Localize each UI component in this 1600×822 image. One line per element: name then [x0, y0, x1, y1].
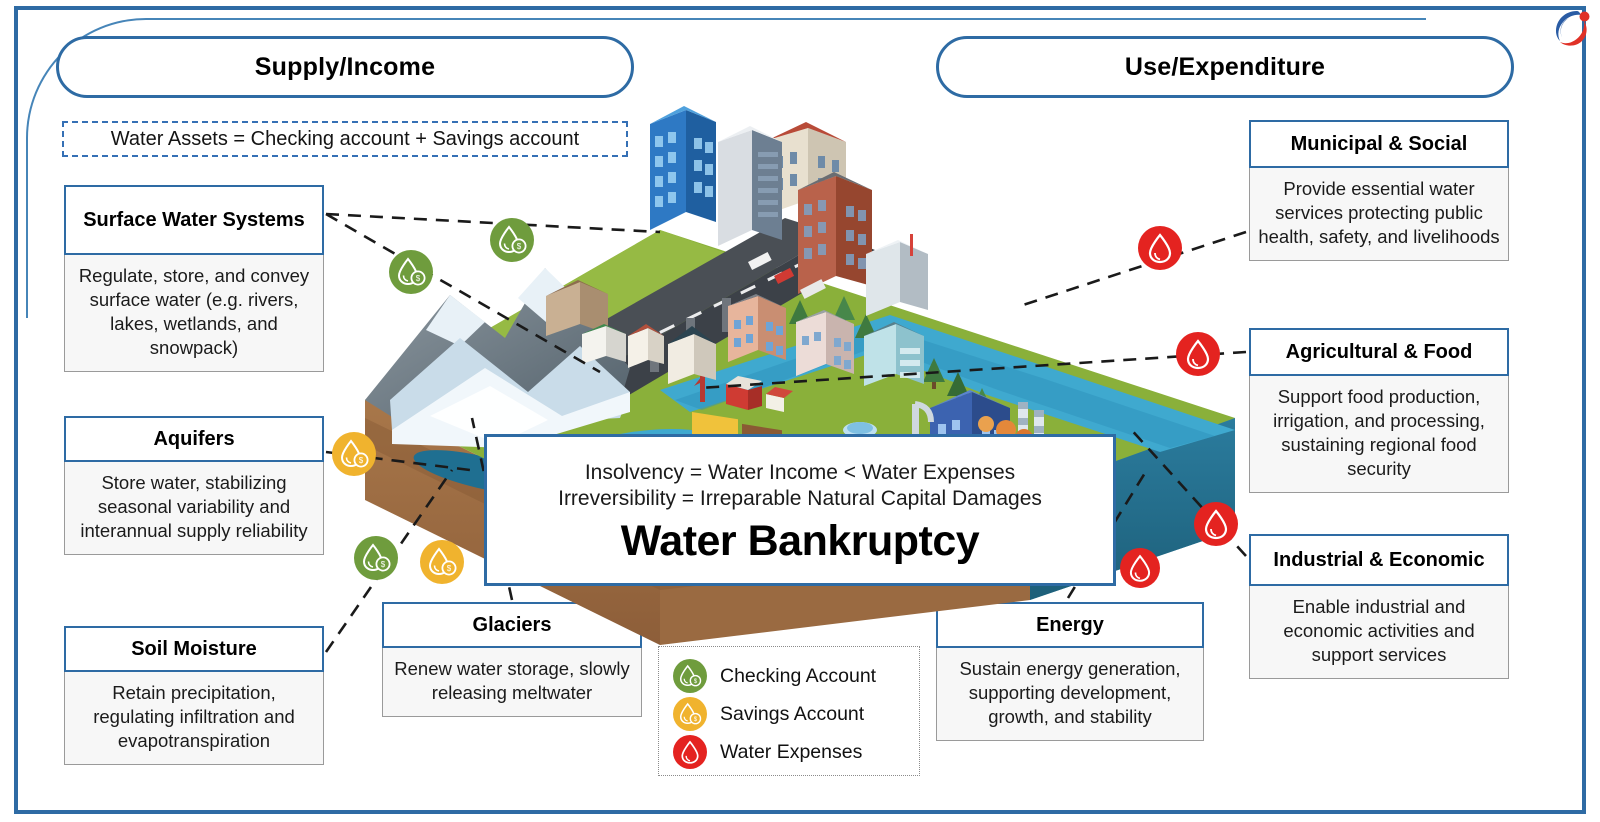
legend-item-savings: $ Savings Account — [673, 695, 919, 733]
water-expense-badge-4 — [1120, 548, 1160, 588]
card-title: Aquifers — [64, 416, 324, 462]
legend-label: Savings Account — [720, 703, 864, 726]
card-title: Soil Moisture — [64, 626, 324, 672]
brand-logo-icon — [1546, 4, 1594, 52]
water-expense-badge-2 — [1176, 332, 1220, 376]
card-body: Retain precipitation, regulating infiltr… — [64, 672, 324, 765]
legend-item-checking: $ Checking Account — [673, 657, 919, 695]
card-surface-water-systems[interactable]: Surface Water Systems Regulate, store, a… — [64, 185, 324, 372]
water-drop-dollar-yellow-icon: $ — [673, 697, 707, 731]
legend-label: Water Expenses — [720, 741, 862, 764]
svg-text:$: $ — [359, 456, 364, 465]
checking-account-badge-3: $ — [354, 536, 398, 580]
water-drop-dollar-green-icon: $ — [673, 659, 707, 693]
legend-item-expenses: Water Expenses — [673, 733, 919, 771]
water-drop-red-icon — [673, 735, 707, 769]
legend-label: Checking Account — [720, 665, 876, 688]
savings-account-badge-2: $ — [420, 540, 464, 584]
svg-text:$: $ — [694, 716, 698, 723]
card-title: Surface Water Systems — [64, 185, 324, 255]
card-body: Store water, stabilizing seasonal variab… — [64, 462, 324, 555]
checking-account-badge-1: $ — [389, 250, 433, 294]
water-expense-badge-1 — [1138, 226, 1182, 270]
use-expenditure-header: Use/Expenditure — [936, 36, 1514, 98]
water-expense-badge-3 — [1194, 502, 1238, 546]
savings-account-badge-1: $ — [332, 432, 376, 476]
supply-income-header: Supply/Income — [56, 36, 634, 98]
svg-text:$: $ — [447, 564, 452, 573]
svg-text:$: $ — [381, 560, 386, 569]
insolvency-equation: Insolvency = Water Income < Water Expens… — [585, 460, 1015, 486]
water-bankruptcy-headline: Water Bankruptcy — [621, 517, 979, 566]
card-soil-moisture[interactable]: Soil Moisture Retain precipitation, regu… — [64, 626, 324, 765]
water-bankruptcy-callout: Insolvency = Water Income < Water Expens… — [484, 434, 1116, 586]
watershed-illustration — [330, 100, 1290, 680]
infographic-canvas: Supply/Income Use/Expenditure Water Asse… — [0, 0, 1600, 822]
irreversibility-equation: Irreversibility = Irreparable Natural Ca… — [558, 486, 1042, 512]
legend-panel: $ Checking Account $ Savings Account — [658, 646, 920, 776]
checking-account-badge-2: $ — [490, 218, 534, 262]
svg-text:$: $ — [416, 274, 421, 283]
card-aquifers[interactable]: Aquifers Store water, stabilizing season… — [64, 416, 324, 555]
svg-text:$: $ — [517, 242, 522, 251]
svg-text:$: $ — [694, 678, 698, 685]
card-body: Regulate, store, and convey surface wate… — [64, 255, 324, 372]
